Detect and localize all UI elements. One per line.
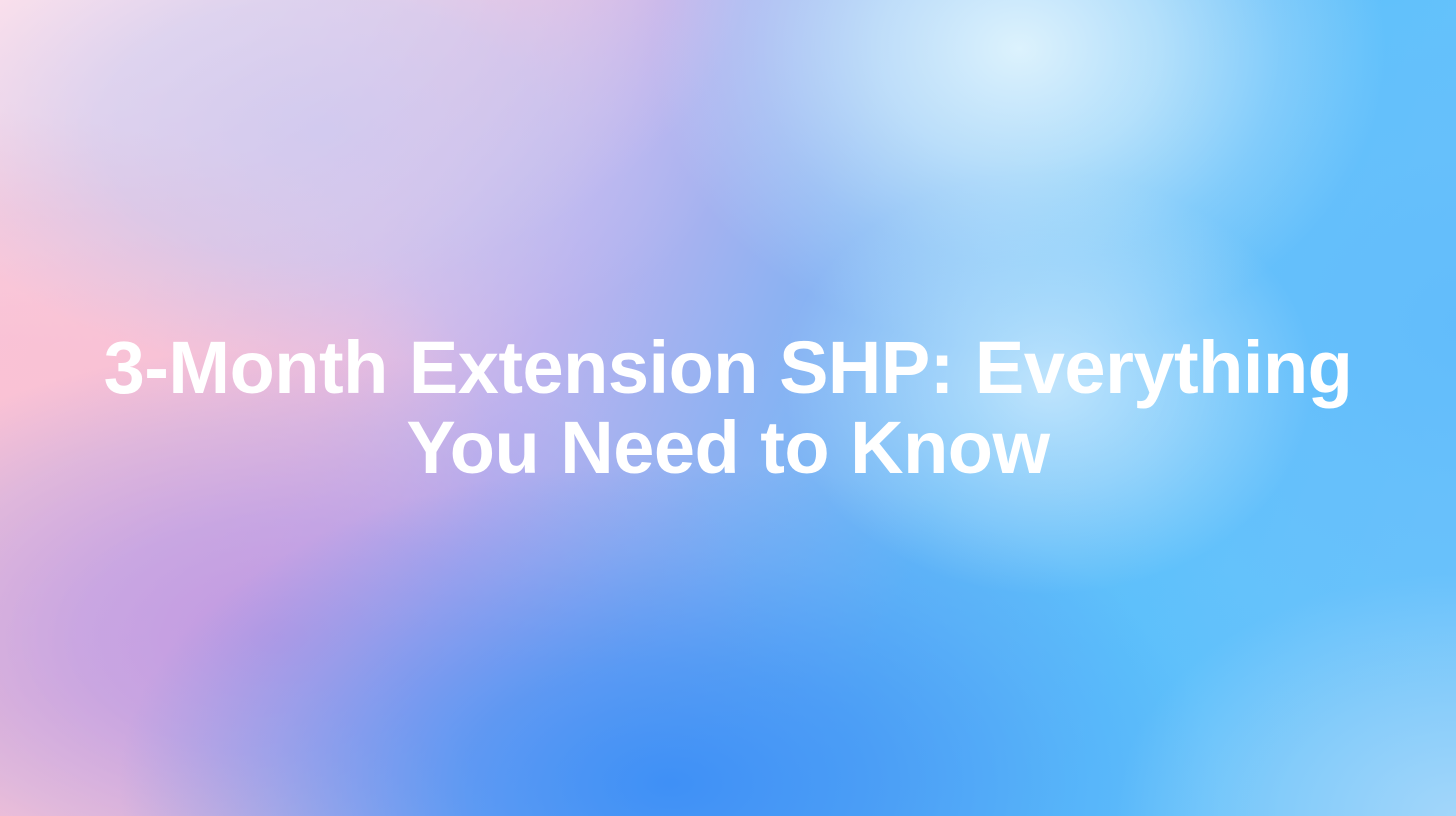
hero-banner: 3-Month Extension SHP: Everything You Ne… bbox=[0, 0, 1456, 816]
page-title: 3-Month Extension SHP: Everything You Ne… bbox=[40, 328, 1416, 488]
hero-content: 3-Month Extension SHP: Everything You Ne… bbox=[0, 0, 1456, 816]
